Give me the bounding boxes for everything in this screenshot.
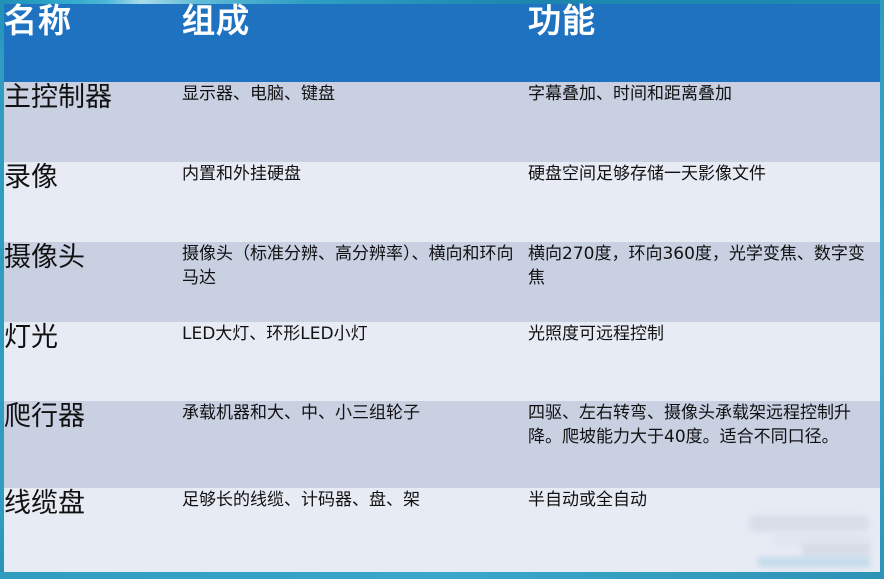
cell-name: 线缆盘 [4, 488, 182, 572]
cell-function: 四驱、左右转弯、摄像头承载架远程控制升降。爬坡能力大于40度。适合不同口径。 [528, 401, 880, 488]
table-row: 主控制器 显示器、电脑、键盘 字幕叠加、时间和距离叠加 [4, 82, 880, 162]
cell-function: 硬盘空间足够存储一天影像文件 [528, 162, 880, 242]
cell-name: 灯光 [4, 322, 182, 401]
cell-function: 半自动或全自动 [528, 488, 880, 572]
table-row: 灯光 LED大灯、环形LED小灯 光照度可远程控制 [4, 322, 880, 401]
table-header-row: 名称 组成 功能 [4, 4, 880, 82]
cell-function: 横向270度，环向360度，光学变焦、数字变焦 [528, 242, 880, 322]
column-header-name: 名称 [4, 4, 182, 82]
cell-composition: 摄像头（标准分辨、高分辨率）、横向和环向马达 [182, 242, 528, 322]
cell-composition: 显示器、电脑、键盘 [182, 82, 528, 162]
slide-border-bottom [0, 572, 884, 579]
cell-composition: 足够长的线缆、计码器、盘、架 [182, 488, 528, 572]
cell-function: 字幕叠加、时间和距离叠加 [528, 82, 880, 162]
cell-composition: LED大灯、环形LED小灯 [182, 322, 528, 401]
column-header-composition: 组成 [182, 4, 528, 82]
slide-border-right [880, 0, 884, 579]
specification-table: 名称 组成 功能 主控制器 显示器、电脑、键盘 字幕叠加、时间和距离叠加 录像 … [4, 4, 880, 572]
table-header: 名称 组成 功能 [4, 4, 880, 82]
cell-name: 录像 [4, 162, 182, 242]
table-row: 录像 内置和外挂硬盘 硬盘空间足够存储一天影像文件 [4, 162, 880, 242]
column-header-composition-label: 组成 [182, 4, 528, 39]
cell-composition: 承载机器和大、中、小三组轮子 [182, 401, 528, 488]
table-body: 主控制器 显示器、电脑、键盘 字幕叠加、时间和距离叠加 录像 内置和外挂硬盘 硬… [4, 82, 880, 572]
column-header-function: 功能 [528, 4, 880, 82]
column-header-function-label: 功能 [528, 4, 880, 39]
table-row: 摄像头 摄像头（标准分辨、高分辨率）、横向和环向马达 横向270度，环向360度… [4, 242, 880, 322]
cell-name: 爬行器 [4, 401, 182, 488]
table-row: 爬行器 承载机器和大、中、小三组轮子 四驱、左右转弯、摄像头承载架远程控制升降。… [4, 401, 880, 488]
cell-name: 主控制器 [4, 82, 182, 162]
table-row: 线缆盘 足够长的线缆、计码器、盘、架 半自动或全自动 [4, 488, 880, 572]
cell-function: 光照度可远程控制 [528, 322, 880, 401]
column-header-name-label: 名称 [4, 4, 182, 39]
cell-composition: 内置和外挂硬盘 [182, 162, 528, 242]
cell-name: 摄像头 [4, 242, 182, 322]
slide-canvas: 名称 组成 功能 主控制器 显示器、电脑、键盘 字幕叠加、时间和距离叠加 录像 … [0, 0, 884, 579]
